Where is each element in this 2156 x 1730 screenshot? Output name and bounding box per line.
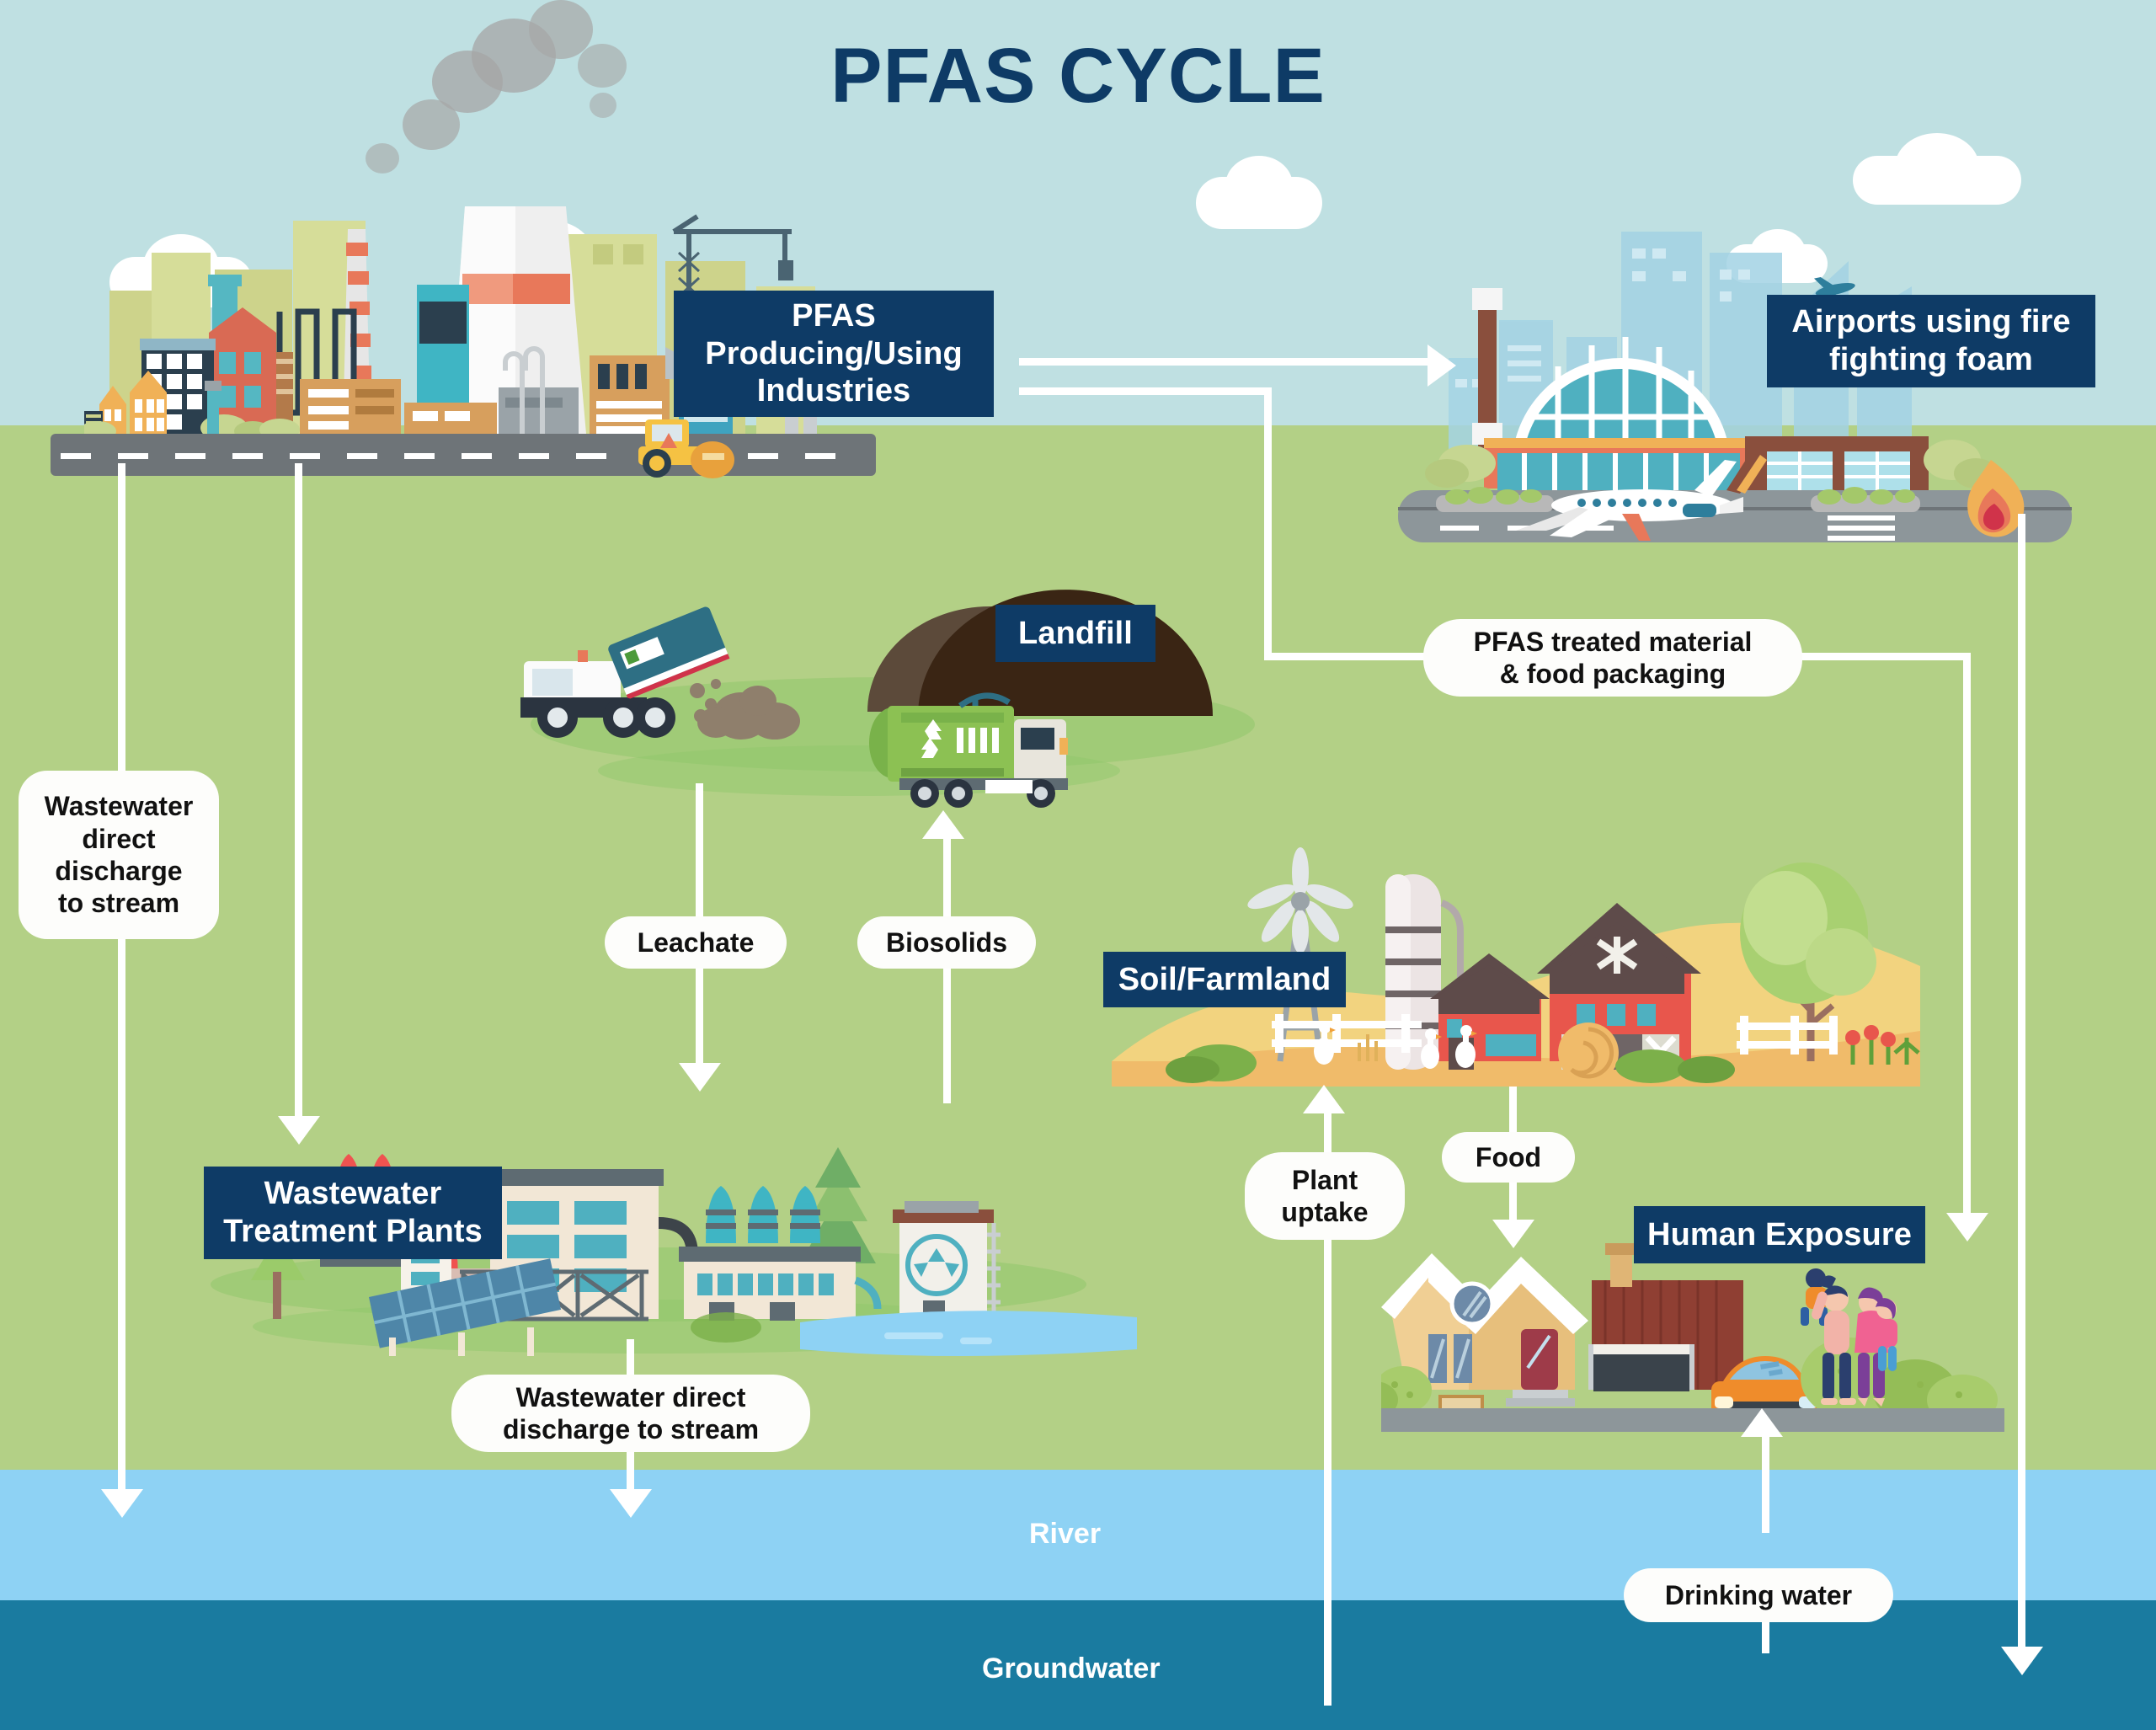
connector-treated-to-human-h — [1794, 653, 1971, 660]
human-exposure-text: Human Exposure — [1647, 1216, 1912, 1254]
soil-farmland-text: Soil/Farmland — [1118, 961, 1331, 999]
industries-line1: PFAS — [792, 297, 876, 335]
connector-leachate-to-wwtp — [696, 969, 703, 1078]
ww-bottom-line1: Wastewater direct — [516, 1381, 746, 1413]
flow-label-wastewater-direct-bottom[interactable]: Wastewater direct discharge to stream — [451, 1375, 810, 1452]
infographic-canvas: PFAS CYCLE — [0, 0, 2156, 1730]
industries-line2: Producing/Using — [705, 335, 963, 373]
ww-bottom-line2: discharge to stream — [503, 1413, 759, 1445]
connector-wwtp-to-ww-direct-bottom — [627, 1339, 634, 1380]
pfas-treated-line2: & food packaging — [1500, 658, 1726, 690]
farm-illustration — [1112, 809, 1920, 1078]
flow-label-pfas-treated-material[interactable]: PFAS treated material & food packaging — [1423, 619, 1802, 697]
pfas-treated-line1: PFAS treated material — [1474, 626, 1753, 658]
page-title: PFAS CYCLE — [0, 32, 2156, 120]
river-label: River — [1029, 1518, 1101, 1551]
arrow-down-icon — [101, 1489, 143, 1518]
arrow-down-icon — [278, 1116, 320, 1145]
food-text: Food — [1476, 1141, 1541, 1173]
arrow-up-icon — [922, 810, 964, 841]
cloud-icon — [1225, 156, 1293, 215]
arrow-down-icon — [679, 1063, 721, 1092]
connector-biosolids-to-landfill — [943, 834, 951, 918]
ww-top-line1: Wastewater — [45, 790, 194, 822]
connector-treated-to-human-v — [1963, 653, 1971, 1225]
drinking-water-text: Drinking water — [1665, 1579, 1852, 1611]
plant-uptake-line2: uptake — [1281, 1196, 1368, 1228]
airports-line1: Airports using fire — [1791, 303, 2070, 341]
connector-industry-to-ww-direct-top — [118, 463, 125, 775]
ww-top-line2: direct — [82, 823, 155, 855]
connector-treated-material-horizontal — [1264, 653, 1433, 660]
connector-ww-direct-top-to-river — [118, 939, 125, 1503]
flow-label-leachate[interactable]: Leachate — [605, 916, 787, 969]
connector-industry-to-wwtp — [295, 463, 302, 1129]
flow-label-plant-uptake[interactable]: Plant uptake — [1245, 1152, 1405, 1240]
wwtp-line2: Treatment Plants — [223, 1213, 483, 1251]
node-label-industries[interactable]: PFAS Producing/Using Industries — [674, 291, 994, 417]
flow-label-biosolids[interactable]: Biosolids — [857, 916, 1036, 969]
arrow-up-icon — [1741, 1408, 1783, 1439]
connector-groundwater-to-plant-uptake — [1324, 1234, 1331, 1706]
flow-label-wastewater-direct-top[interactable]: Wastewater direct discharge to stream — [19, 771, 219, 939]
leachate-text: Leachate — [638, 926, 755, 958]
biosolids-text: Biosolids — [886, 926, 1007, 958]
landfill-illustration — [505, 556, 1263, 809]
ww-top-line3: discharge — [55, 855, 182, 887]
flow-label-drinking-water[interactable]: Drinking water — [1624, 1568, 1893, 1622]
arrow-down-icon — [2001, 1647, 2043, 1675]
industries-line3: Industries — [757, 372, 911, 410]
node-label-landfill[interactable]: Landfill — [995, 605, 1155, 662]
arrow-up-icon — [1303, 1085, 1345, 1115]
ww-top-line4: to stream — [58, 887, 179, 919]
groundwater-text: Groundwater — [982, 1653, 1161, 1685]
airports-line2: fighting foam — [1829, 341, 2033, 379]
connector-wwtp-to-biosolids — [943, 969, 951, 1103]
connector-soil-to-food — [1509, 1087, 1517, 1133]
node-label-airports[interactable]: Airports using fire fighting foam — [1767, 295, 2095, 387]
flow-label-food[interactable]: Food — [1442, 1132, 1575, 1183]
wwtp-line1: Wastewater — [264, 1175, 442, 1213]
connector-landfill-to-leachate — [696, 783, 703, 918]
arrow-down-icon — [610, 1489, 652, 1518]
connector-treated-material-vertical — [1264, 387, 1272, 657]
arrow-right-icon — [1428, 344, 1456, 387]
plant-uptake-line1: Plant — [1292, 1164, 1358, 1196]
node-label-wwtp[interactable]: Wastewater Treatment Plants — [204, 1167, 502, 1259]
landfill-text: Landfill — [1018, 615, 1133, 653]
node-label-human-exposure[interactable]: Human Exposure — [1634, 1206, 1925, 1263]
connector-drinking-water-to-human — [1762, 1432, 1769, 1533]
connector-industry-to-airport — [1019, 358, 1432, 366]
groundwater-label: Groundwater — [982, 1653, 1161, 1685]
arrow-down-icon — [1946, 1213, 1988, 1241]
cloud-icon — [1895, 133, 1979, 200]
connector-industry-to-treated-material — [1019, 387, 1272, 395]
arrow-down-icon — [1492, 1220, 1534, 1248]
river-text: River — [1029, 1518, 1101, 1550]
node-label-soil-farmland[interactable]: Soil/Farmland — [1103, 952, 1346, 1007]
connector-airport-to-groundwater — [2018, 514, 2025, 1659]
